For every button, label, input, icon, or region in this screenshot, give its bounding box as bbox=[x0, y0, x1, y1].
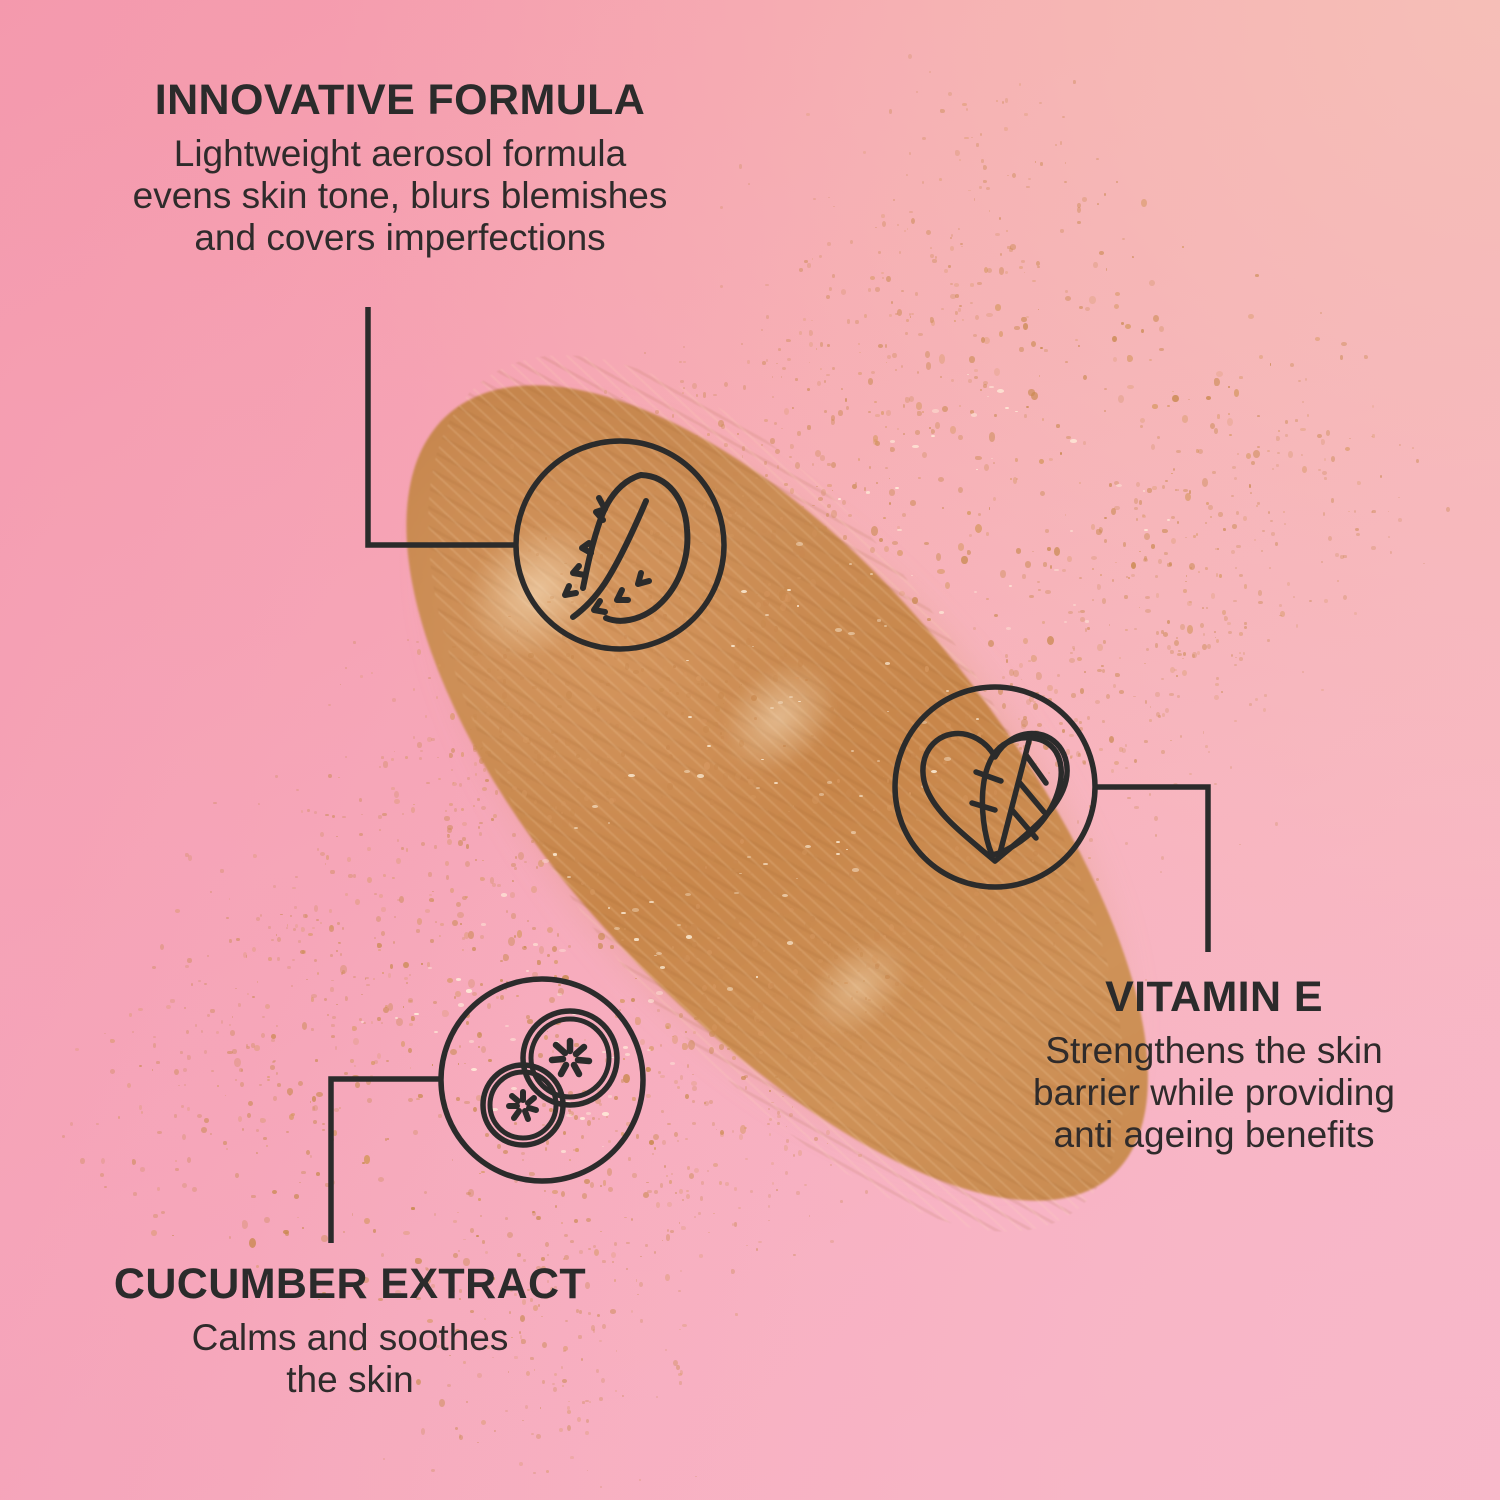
feature-body-line: evens skin tone, blurs blemishes bbox=[133, 175, 668, 216]
feature-body-innovative-formula: Lightweight aerosol formula evens skin t… bbox=[70, 133, 730, 260]
feature-body-cucumber-extract: Calms and soothes the skin bbox=[40, 1317, 660, 1401]
infographic-canvas: INNOVATIVE FORMULA Lightweight aerosol f… bbox=[0, 0, 1500, 1500]
feature-body-line: Strengthens the skin bbox=[1045, 1030, 1382, 1071]
feature-body-line: the skin bbox=[286, 1359, 414, 1400]
icon-badge-cucumber-extract[interactable] bbox=[441, 979, 643, 1181]
feature-text-vitamin-e: VITAMIN E Strengthens the skin barrier w… bbox=[970, 975, 1458, 1157]
feature-body-line: and covers imperfections bbox=[194, 217, 605, 258]
icon-badge-vitamin-e[interactable] bbox=[895, 687, 1095, 887]
feature-heading-vitamin-e: VITAMIN E bbox=[970, 975, 1458, 1020]
cucumber-slices-icon bbox=[483, 1011, 617, 1145]
feature-body-line: Lightweight aerosol formula bbox=[174, 133, 626, 174]
connector-innovative-formula bbox=[368, 307, 516, 545]
feature-heading-cucumber-extract: CUCUMBER EXTRACT bbox=[40, 1262, 660, 1307]
feature-text-innovative-formula: INNOVATIVE FORMULA Lightweight aerosol f… bbox=[70, 78, 730, 260]
feather-icon bbox=[565, 475, 687, 621]
feature-body-line: Calms and soothes bbox=[192, 1317, 509, 1358]
feature-text-cucumber-extract: CUCUMBER EXTRACT Calms and soothes the s… bbox=[40, 1262, 660, 1401]
icon-badge-innovative-formula[interactable] bbox=[516, 441, 724, 649]
icon-circle-outline bbox=[516, 441, 724, 649]
heart-leaf-icon bbox=[923, 734, 1067, 861]
connector-cucumber-extract bbox=[331, 1079, 441, 1243]
feature-heading-innovative-formula: INNOVATIVE FORMULA bbox=[70, 78, 730, 123]
connector-vitamin-e bbox=[1096, 787, 1208, 952]
feature-body-line: barrier while providing bbox=[1033, 1072, 1395, 1113]
feature-body-line: anti ageing benefits bbox=[1054, 1114, 1375, 1155]
feature-body-vitamin-e: Strengthens the skin barrier while provi… bbox=[970, 1030, 1458, 1157]
